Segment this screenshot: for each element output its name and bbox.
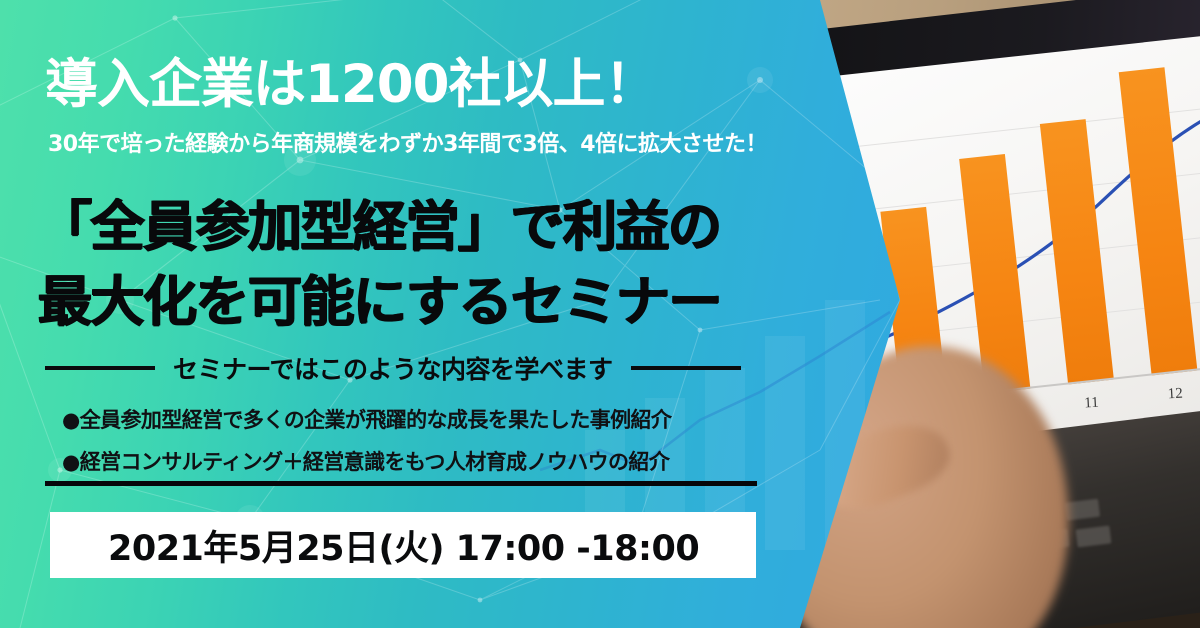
list-item: ●全員参加型経営で多くの企業が飛躍的な成長を果たした事例紹介 [62, 404, 671, 434]
banner-content: 導入企業は1200社以上！ 30年で培った経験から年商規模をわずか3年間で3倍、… [0, 0, 820, 628]
rule-right [631, 366, 741, 370]
headline: 導入企業は1200社以上！ [45, 42, 657, 118]
list-item: ●経営コンサルティング＋経営意識をもつ人材育成ノウハウの紹介 [62, 446, 669, 476]
chart-bar [1119, 67, 1198, 375]
chart-xtick: 11 [1084, 395, 1099, 413]
learn-heading: セミナーではこのような内容を学べます [173, 350, 613, 386]
seminar-datetime: 2021年5月25日(火) 17:00 -18:00 [108, 520, 699, 571]
rule-left [45, 366, 155, 370]
section-divider [45, 481, 757, 486]
subheadline: 30年で培った経験から年商規模をわずか3年間で3倍、4倍に拡大させた！ [48, 126, 767, 158]
learn-heading-row: セミナーではこのような内容を学べます [45, 350, 760, 386]
seminar-title-line2: 最大化を可能にするセミナー [38, 257, 721, 336]
chart-bar [1040, 119, 1114, 384]
seminar-title-line1: 「全員参加型経営」で利益の [38, 182, 721, 261]
chart-xtick: 12 [1167, 386, 1183, 404]
date-box: 2021年5月25日(火) 17:00 -18:00 [50, 512, 756, 578]
seminar-banner: 8 9 10 11 12 0 5 10 15 20 [0, 0, 1200, 628]
